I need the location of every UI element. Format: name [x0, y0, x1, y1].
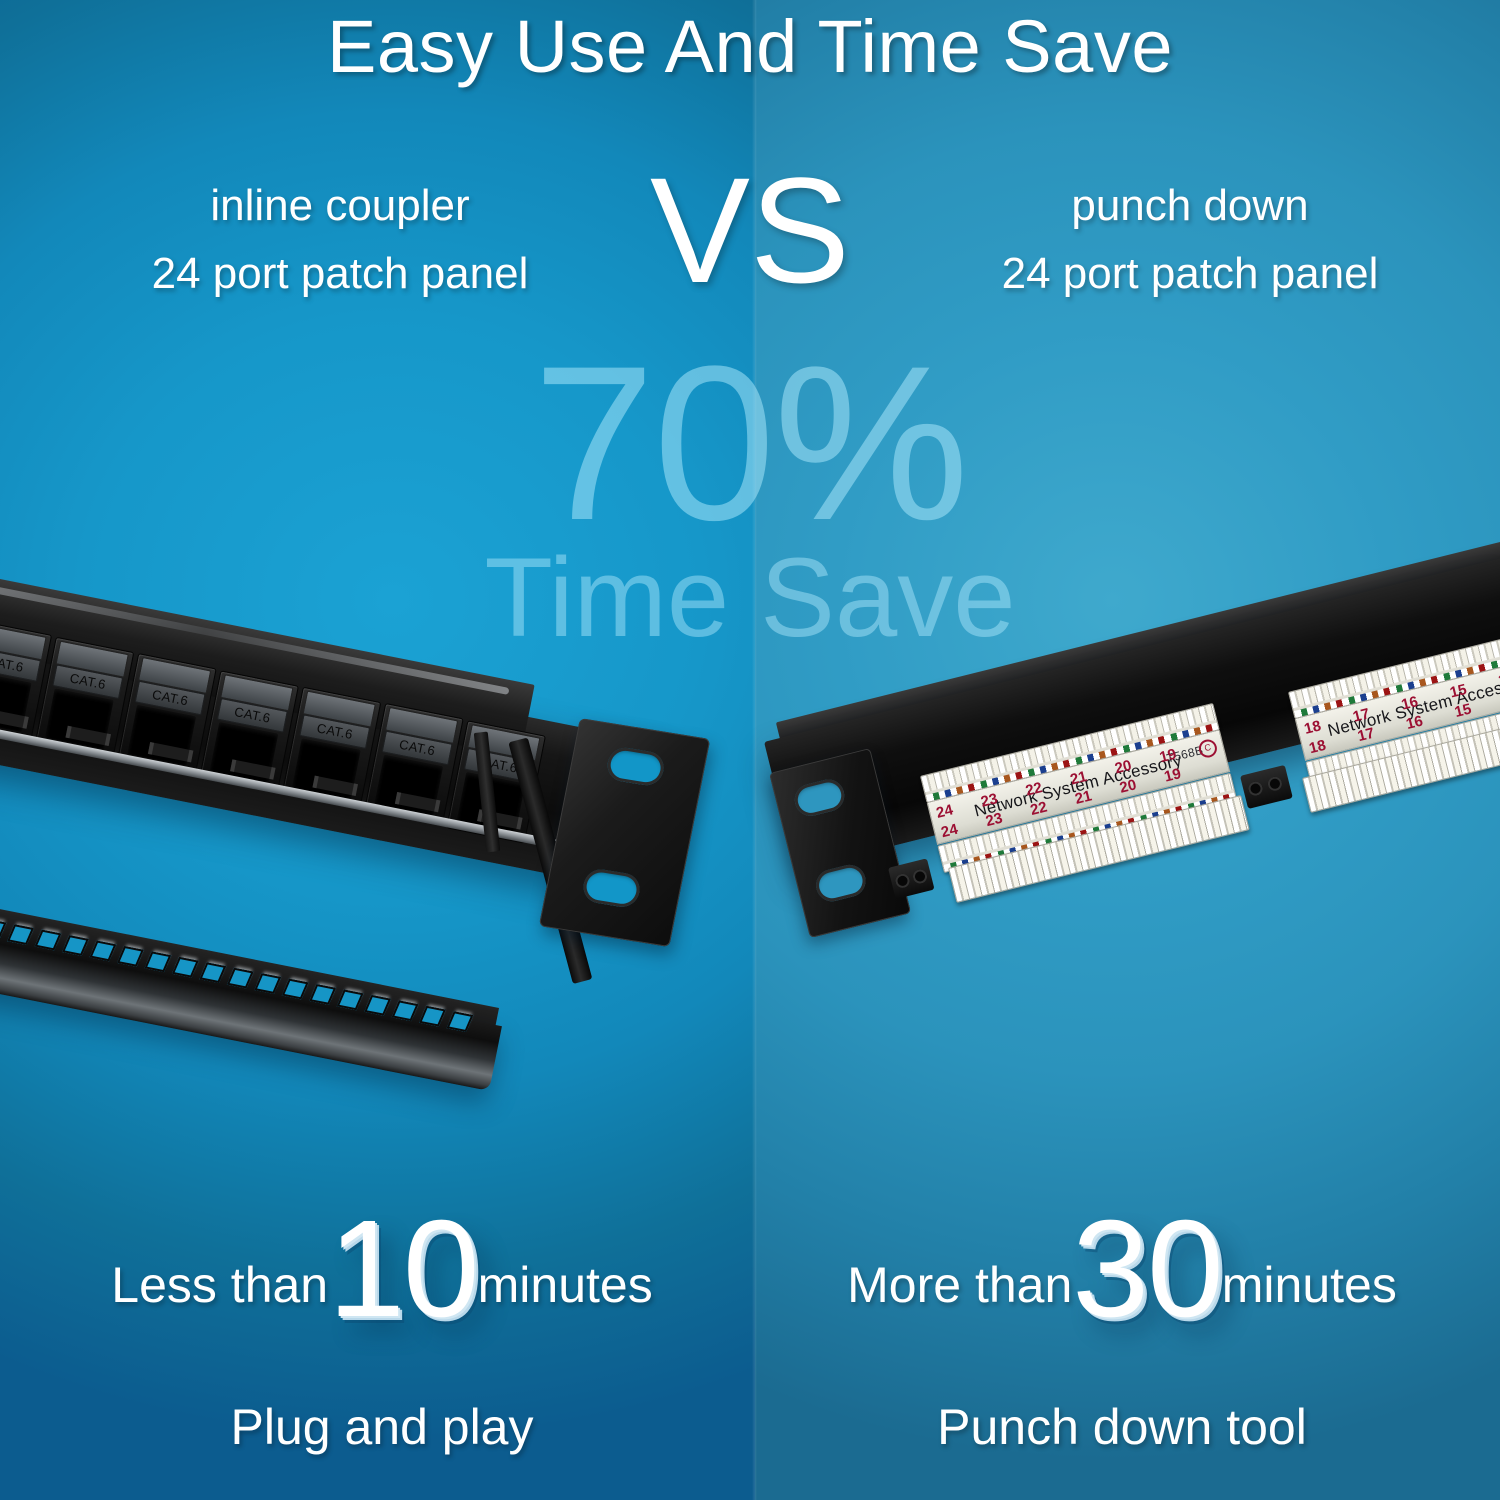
right-product-caption: Punch down tool [754, 1398, 1490, 1456]
right-heading-line-2: 24 port patch panel [880, 240, 1500, 308]
panel-center-clip [1240, 765, 1293, 809]
cable-tie-slot [199, 962, 226, 983]
cable-tie-slot [7, 924, 34, 945]
cable-tie-slot [35, 930, 62, 951]
product-comparison-image: 70% Time Save CAT.6CAT.6CAT.6CAT.6CAT.6C… [0, 0, 1500, 1500]
port-keyway-notch [66, 726, 111, 746]
cable-tie-slot [172, 957, 199, 978]
cable-tie-slot [392, 1000, 419, 1021]
left-time-stat: Less than10minutes [14, 1200, 750, 1338]
right-stat-suffix: minutes [1222, 1257, 1397, 1313]
inline-coupler-panel-photo: CAT.6CAT.6CAT.6CAT.6CAT.6CAT.6CAT.6CAT.6 [0, 560, 820, 1100]
port-keyway-notch [0, 709, 29, 729]
right-heading-line-1: punch down [880, 172, 1500, 240]
left-product-heading: inline coupler 24 port patch panel [20, 172, 660, 308]
left-heading-line-1: inline coupler [20, 172, 660, 240]
cable-tie-slot [337, 989, 364, 1010]
vs-label: VS [620, 155, 880, 305]
rack-screw-hole [605, 745, 667, 787]
rack-screw-hole [791, 776, 847, 819]
cable-tie-slot [419, 1006, 446, 1027]
cable-tie-slot [144, 951, 171, 972]
punch-down-panel-photo: Network System Accessory T568B C 24 23 2… [770, 600, 1500, 1000]
left-product-caption: Plug and play [14, 1398, 750, 1456]
right-product-heading: punch down 24 port patch panel [880, 172, 1500, 308]
left-stat-prefix: Less than [111, 1257, 328, 1313]
cable-tie-slot [227, 968, 254, 989]
left-heading-line-2: 24 port patch panel [20, 240, 660, 308]
left-stat-suffix: minutes [478, 1257, 653, 1313]
cable-tie-slot [62, 935, 89, 956]
left-stat-number: 10 [328, 1192, 478, 1346]
clip-hole [894, 872, 911, 889]
clip-hole [1247, 780, 1264, 797]
cable-tie-slot [117, 946, 144, 967]
cable-tie-slot [364, 995, 391, 1016]
port-number: 24 [939, 821, 959, 842]
right-time-stat: More than30minutes [754, 1200, 1490, 1338]
cable-tie-slot [282, 979, 309, 1000]
cable-tie-slot [254, 973, 281, 994]
cable-tie-slot [0, 919, 7, 940]
rack-screw-hole [581, 867, 643, 909]
right-stat-number: 30 [1072, 1192, 1222, 1346]
right-stat-prefix: More than [847, 1257, 1072, 1313]
cable-tie-slot [447, 1011, 474, 1032]
cable-tie-slot [90, 941, 117, 962]
clip-hole [1266, 775, 1283, 792]
port-opening [0, 672, 31, 733]
clip-hole [912, 868, 929, 885]
page-title: Easy Use And Time Save [0, 4, 1500, 89]
cable-tie-slot [309, 984, 336, 1005]
rack-screw-hole [813, 862, 869, 905]
